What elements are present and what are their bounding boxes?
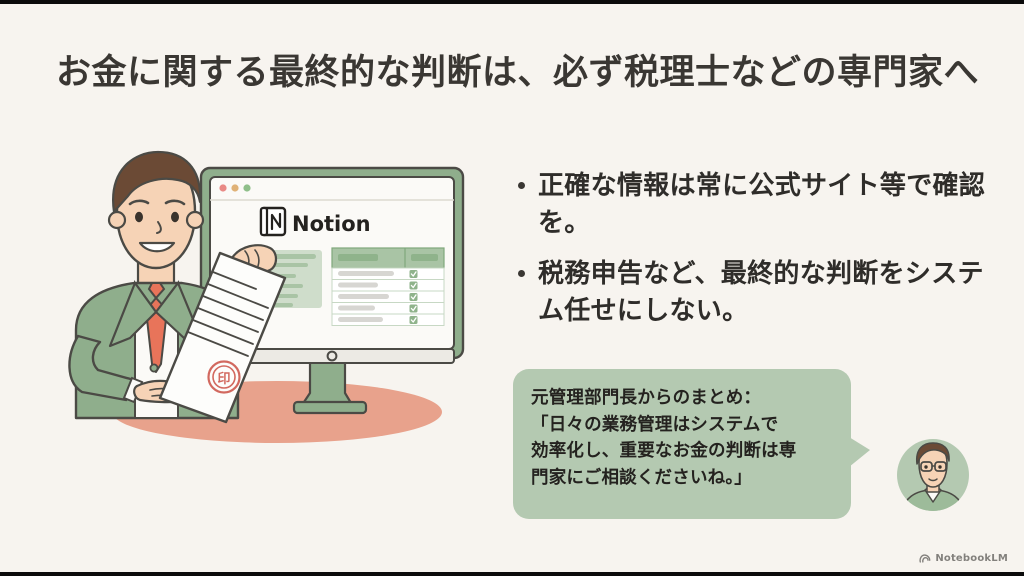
illustration-businessman-with-monitor: Notion	[42, 150, 502, 460]
speech-bubble-line: 元管理部門長からのまとめ：	[531, 385, 837, 412]
watermark-label: NotebookLM	[935, 553, 1008, 564]
notebooklm-watermark: NotebookLM	[919, 553, 1008, 564]
ear-right	[187, 212, 203, 228]
page-title: お金に関する最終的な判断は、必ず税理士などの専門家へ	[56, 52, 976, 94]
window-dot-red	[219, 184, 226, 191]
avatar-eye-right	[938, 465, 941, 468]
document-stamp-icon: 印	[209, 362, 240, 393]
letterbox-top	[0, 0, 1024, 4]
list-item: 正確な情報は常に公式サイト等で確認を。	[518, 168, 988, 242]
bullet-text: 税務申告など、最終的な判断をシステム任せにしない。	[538, 256, 988, 330]
speech-bubble-line: 門家にご相談くださいね。」	[531, 465, 837, 492]
monitor-stand-foot	[294, 402, 366, 413]
speech-bubble-line: 効率化し、重要なお金の判断は専	[531, 438, 837, 465]
table-row	[332, 280, 444, 292]
eye-left	[135, 212, 143, 222]
speech-bubble-line: 「日々の業務管理はシステムで	[531, 412, 837, 439]
table-row	[332, 303, 444, 315]
notion-wordmark: Notion	[292, 212, 371, 236]
letterbox-bottom	[0, 572, 1024, 576]
table-row	[332, 314, 444, 326]
bullet-text: 正確な情報は常に公式サイト等で確認を。	[538, 168, 988, 242]
eye-right	[171, 212, 179, 222]
avatar-svg	[896, 438, 970, 512]
table-row	[332, 291, 444, 303]
advisor-avatar	[896, 438, 970, 512]
speech-bubble: 元管理部門長からのまとめ： 「日々の業務管理はシステムで 効率化し、重要なお金の…	[513, 369, 851, 519]
illustration-svg: Notion	[42, 150, 502, 460]
avatar-eye-left	[924, 465, 927, 468]
speech-bubble-tail	[849, 437, 870, 467]
bullet-dot-icon	[518, 270, 525, 277]
slide-root: お金に関する最終的な判断は、必ず税理士などの専門家へ	[0, 0, 1024, 576]
bullet-dot-icon	[518, 182, 525, 189]
ear-left	[109, 212, 125, 228]
table-row	[332, 268, 444, 280]
window-dot-amber	[231, 184, 238, 191]
svg-text:印: 印	[217, 372, 230, 387]
monitor-power-button	[328, 352, 337, 361]
notion-logo-icon	[261, 208, 285, 235]
jacket-button	[150, 364, 157, 371]
monitor-table	[332, 248, 444, 326]
window-dot-green	[243, 184, 250, 191]
list-item: 税務申告など、最終的な判断をシステム任せにしない。	[518, 256, 988, 330]
bullet-list: 正確な情報は常に公式サイト等で確認を。 税務申告など、最終的な判断をシステム任せ…	[518, 168, 988, 344]
notebook-spiral-icon	[919, 553, 931, 564]
